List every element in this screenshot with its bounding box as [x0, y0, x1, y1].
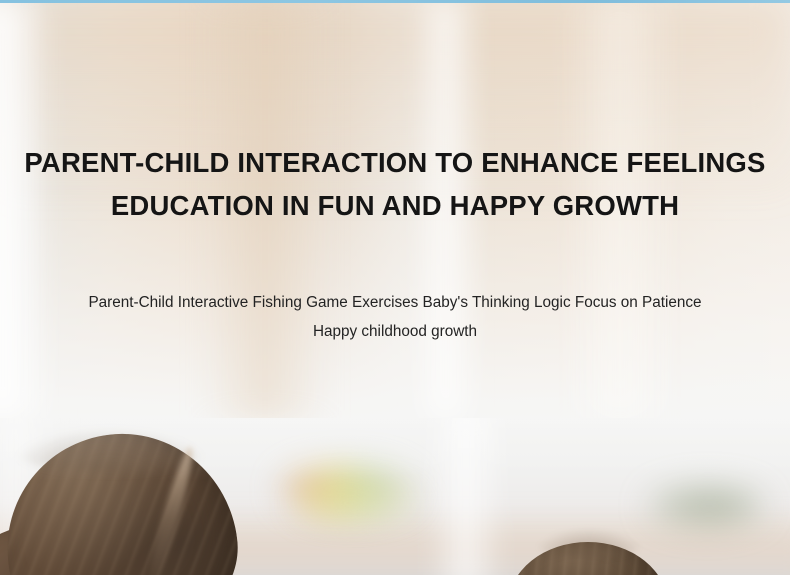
lifestyle-photo — [0, 418, 790, 575]
blurred-green-plant — [648, 486, 763, 526]
headline-line-1: PARENT-CHILD INTERACTION TO ENHANCE FEEL… — [0, 149, 790, 177]
subtitle-line-1: Parent-Child Interactive Fishing Game Ex… — [0, 295, 790, 310]
woman-hair-flyaways — [10, 428, 210, 472]
blurred-window-light — [436, 418, 496, 575]
product-banner: PARENT-CHILD INTERACTION TO ENHANCE FEEL… — [0, 0, 790, 575]
blurred-colourful-toys-lower — [300, 488, 420, 518]
woman-head-figure — [0, 434, 266, 575]
subtitle-line-2: Happy childhood growth — [0, 324, 790, 339]
child-head-figure — [498, 528, 678, 575]
top-accent-strip — [0, 0, 790, 3]
headline-line-2: EDUCATION IN FUN AND HAPPY GROWTH — [0, 192, 790, 220]
child-hair-flyaways — [534, 528, 644, 558]
